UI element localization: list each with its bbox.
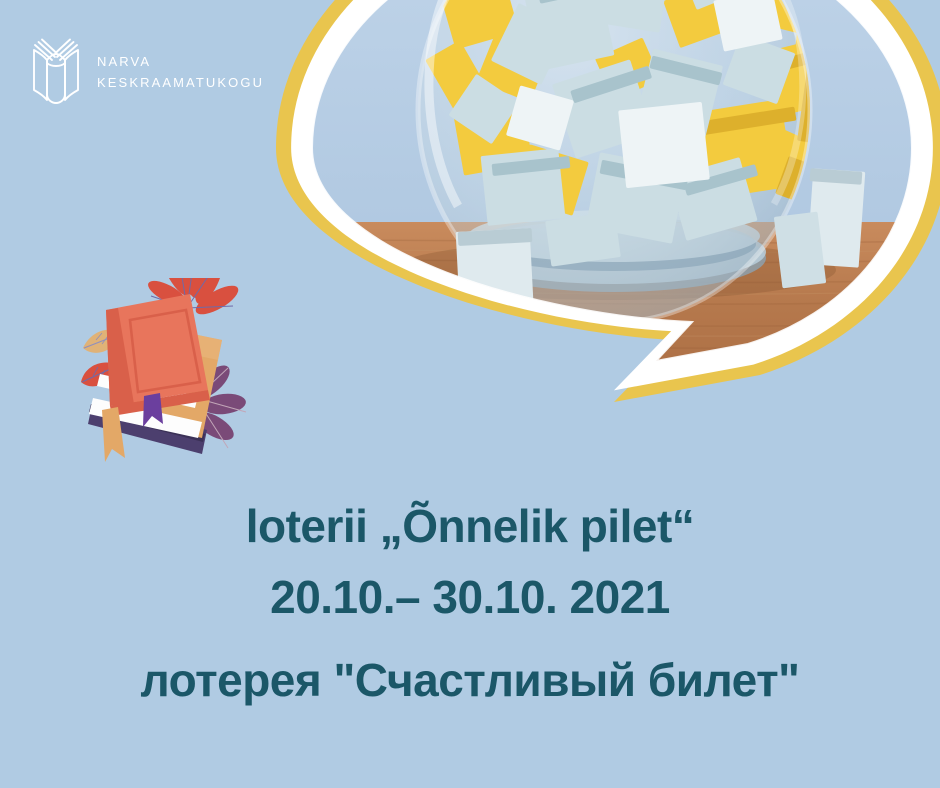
autumn-books-illustration (62, 278, 267, 466)
poster-canvas: NARVA KESKRAAMATUKOGU (0, 0, 940, 788)
logo-line-narva: NARVA (97, 51, 264, 72)
bubble-photo (262, 0, 940, 410)
headline-dates: 20.10.– 30.10. 2021 (20, 558, 920, 636)
books-and-leaves-graphic (62, 278, 267, 466)
headline-title-estonian: loterii „Õnnelik pilet“ (20, 494, 920, 558)
library-logo[interactable]: NARVA KESKRAAMATUKOGU (30, 38, 264, 104)
loose-ticket (774, 212, 826, 289)
open-book-icon (30, 38, 82, 104)
logo-wordmark: NARVA KESKRAAMATUKOGU (97, 49, 264, 93)
speech-bubble (262, 0, 940, 410)
speech-bubble-graphic (262, 0, 940, 410)
headline-title-russian: лотерея "Счастливый билет" (20, 636, 920, 724)
headline-block: loterii „Õnnelik pilet“ 20.10.– 30.10. 2… (0, 494, 940, 724)
logo-line-keskraamatukogu: KESKRAAMATUKOGU (97, 72, 264, 93)
